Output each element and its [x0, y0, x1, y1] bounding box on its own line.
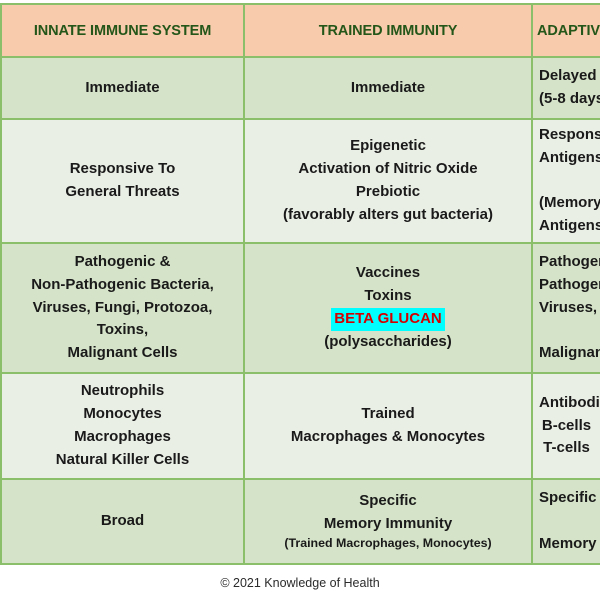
cell-trained-triggers: VaccinesToxinsBETA GLUCAN(polysaccharide…	[244, 243, 532, 373]
cell-text-lines: Delayed(5-8 days)	[539, 65, 594, 111]
cell-text-lines: AntibodiesB-cellsT-cells	[539, 392, 594, 460]
column-header-trained: TRAINED IMMUNITY	[244, 4, 532, 57]
cell-line: Responsive To	[539, 124, 594, 147]
cell-line: Macrophages	[8, 426, 237, 449]
cell-text-lines: EpigeneticActivation of Nitric OxidePreb…	[251, 135, 525, 226]
cell-line: Viruses, Fungi, Protozoa,	[8, 297, 237, 320]
cell-line: General Threats	[8, 181, 237, 204]
cell-trained-timing: Immediate	[244, 57, 532, 119]
cell-adaptive-cells: AntibodiesB-cellsT-cells	[532, 373, 600, 479]
cell-adaptive-response-type: Specific Memory Immunity	[532, 479, 600, 564]
cell-text-lines: Immediate	[8, 77, 237, 100]
cell-text-lines: Responsive ToGeneral Threats	[8, 158, 237, 204]
cell-line: Responsive To	[8, 158, 237, 181]
beta-glucan-highlight: BETA GLUCAN	[331, 308, 445, 331]
table-row: Broad SpecificMemory Immunity(Trained Ma…	[1, 479, 600, 564]
cell-line: Epigenetic	[251, 135, 525, 158]
table-row: Pathogenic &Non-Pathogenic Bacteria,Viru…	[1, 243, 600, 373]
cell-line: Monocytes	[8, 403, 237, 426]
cell-line: Memory Immunity	[251, 513, 525, 536]
cell-line: BETA GLUCAN	[251, 308, 525, 331]
cell-line: Specific	[539, 487, 594, 510]
cell-text-lines: PathogenicPathogens,Viruses, Fungi, Mali…	[539, 251, 594, 365]
cell-innate-cells: NeutrophilsMonocytesMacrophagesNatural K…	[1, 373, 244, 479]
cell-line: Delayed	[539, 65, 594, 88]
cell-adaptive-timing: Delayed(5-8 days)	[532, 57, 600, 119]
cell-line: Trained	[251, 403, 525, 426]
immunity-comparison-table: INNATE IMMUNE SYSTEM TRAINED IMMUNITY AD…	[0, 3, 600, 565]
cell-adaptive-responsiveness: Responsive ToAntigens (Memory of Specifi…	[532, 119, 600, 243]
column-header-innate: INNATE IMMUNE SYSTEM	[1, 4, 244, 57]
table-row: Responsive ToGeneral Threats EpigeneticA…	[1, 119, 600, 243]
cell-line: Macrophages & Monocytes	[251, 426, 525, 449]
cell-line: T-cells	[539, 437, 594, 460]
cell-text-lines: Responsive ToAntigens (Memory of Specifi…	[539, 124, 594, 238]
cell-line: (5-8 days)	[539, 88, 594, 111]
cell-line: (favorably alters gut bacteria)	[251, 204, 525, 227]
cell-trained-responsiveness: EpigeneticActivation of Nitric OxidePreb…	[244, 119, 532, 243]
cell-line: (Memory of Specific	[539, 192, 594, 215]
cell-text-lines: NeutrophilsMonocytesMacrophagesNatural K…	[8, 380, 237, 471]
table-row: NeutrophilsMonocytesMacrophagesNatural K…	[1, 373, 600, 479]
cell-adaptive-triggers: PathogenicPathogens,Viruses, Fungi, Mali…	[532, 243, 600, 373]
cell-innate-triggers: Pathogenic &Non-Pathogenic Bacteria,Viru…	[1, 243, 244, 373]
cell-line: Natural Killer Cells	[8, 449, 237, 472]
cell-line: Malignant Cells	[8, 342, 237, 365]
cell-line: Antigens	[539, 147, 594, 170]
copyright-notice: © 2021 Knowledge of Health	[0, 576, 600, 590]
cell-text-lines: VaccinesToxinsBETA GLUCAN(polysaccharide…	[251, 262, 525, 353]
cell-line: Pathogenic	[539, 251, 594, 274]
cell-line: Memory Immunity	[539, 533, 594, 556]
cell-text-lines: Immediate	[251, 77, 525, 100]
cell-line: Malignant Cells	[539, 342, 594, 365]
cell-line: Toxins,	[8, 319, 237, 342]
cell-line: Viruses, Fungi,	[539, 297, 594, 320]
cell-line: Pathogenic &	[8, 251, 237, 274]
cell-line: Toxins	[251, 285, 525, 308]
table-header: INNATE IMMUNE SYSTEM TRAINED IMMUNITY AD…	[1, 4, 600, 57]
cell-line: (polysaccharides)	[251, 331, 525, 354]
cell-text-lines: Pathogenic &Non-Pathogenic Bacteria,Viru…	[8, 251, 237, 365]
cell-trained-response-type: SpecificMemory Immunity(Trained Macropha…	[244, 479, 532, 564]
cell-innate-response-type: Broad	[1, 479, 244, 564]
cell-innate-responsiveness: Responsive ToGeneral Threats	[1, 119, 244, 243]
cell-line: (Trained Macrophages, Monocytes)	[251, 535, 525, 553]
cell-line: Activation of Nitric Oxide	[251, 158, 525, 181]
cell-line: Non-Pathogenic Bacteria,	[8, 274, 237, 297]
cell-line: Pathogens,	[539, 274, 594, 297]
cell-text-lines: TrainedMacrophages & Monocytes	[251, 403, 525, 449]
cell-line: Immediate	[8, 77, 237, 100]
column-header-adaptive: ADAPTIVE IMMUNE SYSTEM	[532, 4, 600, 57]
cell-text-lines: SpecificMemory Immunity(Trained Macropha…	[251, 490, 525, 554]
table-header-row: INNATE IMMUNE SYSTEM TRAINED IMMUNITY AD…	[1, 4, 600, 57]
cell-line: B-cells	[539, 415, 594, 438]
cell-text-lines: Broad	[8, 510, 237, 533]
table-body: Immediate Immediate Delayed(5-8 days) Re…	[1, 57, 600, 564]
cell-innate-timing: Immediate	[1, 57, 244, 119]
cell-line: Broad	[8, 510, 237, 533]
cell-line: Antigens)	[539, 215, 594, 238]
cell-line: Immediate	[251, 77, 525, 100]
cell-line: Vaccines	[251, 262, 525, 285]
cell-line: Neutrophils	[8, 380, 237, 403]
cell-line: Antibodies	[539, 392, 594, 415]
cell-line: Specific	[251, 490, 525, 513]
cell-line: Prebiotic	[251, 181, 525, 204]
cell-trained-cells: TrainedMacrophages & Monocytes	[244, 373, 532, 479]
table-row: Immediate Immediate Delayed(5-8 days)	[1, 57, 600, 119]
cell-text-lines: Specific Memory Immunity	[539, 487, 594, 555]
